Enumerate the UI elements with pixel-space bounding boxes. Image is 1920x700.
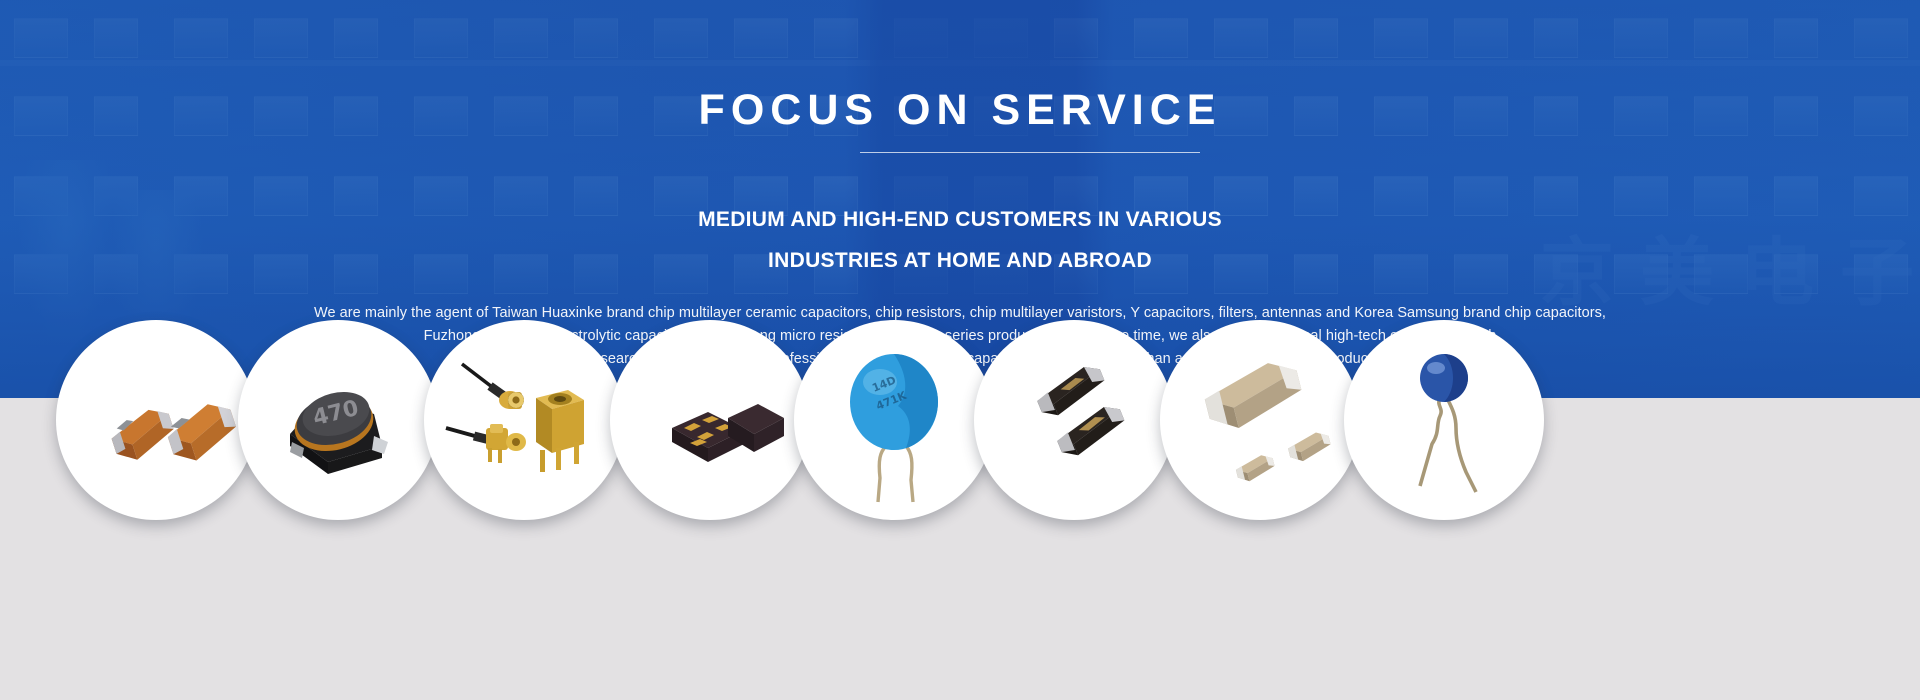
product-circle-ntc-thermistor[interactable] xyxy=(1344,320,1544,520)
ntc-thermistor-image xyxy=(1344,320,1544,520)
product-circle-saw-filter[interactable] xyxy=(610,320,810,520)
product-circle-rf-coaxial-connectors[interactable] xyxy=(424,320,624,520)
product-circle-strip: 470 xyxy=(0,0,1920,700)
coax-cable-lower xyxy=(446,424,526,463)
saw-filter-image xyxy=(610,320,810,520)
coax-pcb-jack xyxy=(536,390,584,472)
product-circle-power-inductor[interactable]: 470 xyxy=(238,320,438,520)
mlcc-chip-capacitors-image xyxy=(1160,320,1360,520)
focus-on-service-banner: 京 美 电 子 FOCUS ON SERVICE MEDIUM AND HIGH… xyxy=(0,0,1920,700)
product-circle-chip-multilayer-ceramic-capacitors[interactable] xyxy=(56,320,256,520)
product-circle-mlcc-chip-capacitors[interactable] xyxy=(1160,320,1360,520)
product-circle-y-capacitor-disc[interactable]: 14D 471K xyxy=(794,320,994,520)
coax-cable-upper xyxy=(462,364,524,409)
chip-resistors-image xyxy=(974,320,1174,520)
rf-coaxial-connectors-image xyxy=(424,320,624,520)
power-inductor-image: 470 xyxy=(238,320,438,520)
y-capacitor-disc-image: 14D 471K xyxy=(794,320,994,520)
product-circle-chip-resistors[interactable] xyxy=(974,320,1174,520)
chip-multilayer-ceramic-capacitors-image xyxy=(56,320,256,520)
